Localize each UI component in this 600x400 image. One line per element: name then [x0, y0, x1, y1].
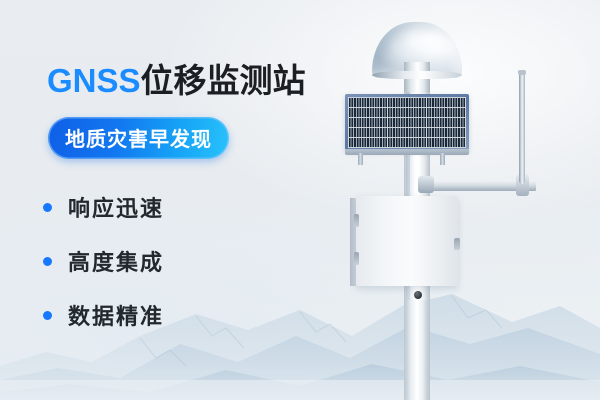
solar-cell: [349, 128, 387, 137]
bullet-dot-icon: [43, 257, 52, 266]
solar-cell: [388, 138, 426, 147]
solar-panel-cells: [348, 97, 466, 148]
tagline-badge: 地质灾害早发现: [48, 117, 229, 159]
brand-name: GNSS: [47, 62, 141, 99]
solar-cell: [388, 128, 426, 137]
solar-cell: [427, 108, 465, 117]
solar-panel: [345, 94, 469, 151]
solar-panel-frame: [345, 149, 469, 155]
solar-cell: [427, 138, 465, 147]
pole-lower-section: [406, 300, 428, 400]
feature-label: 响应迅速: [68, 191, 164, 223]
solar-cell: [388, 118, 426, 127]
page-title-rest: 位移监测站: [141, 62, 306, 99]
cabinet-latch: [454, 238, 460, 250]
list-item: 响应迅速: [43, 180, 164, 234]
list-item: 高度集成: [43, 234, 164, 288]
solar-cell: [388, 98, 426, 107]
cabinet-hinge-bottom: [354, 252, 359, 265]
solar-cell: [427, 118, 465, 127]
cabinet-hinge-top: [354, 214, 359, 227]
feature-label: 高度集成: [68, 245, 164, 277]
solar-cell: [388, 108, 426, 117]
feature-list: 响应迅速 高度集成 数据精准: [43, 180, 164, 342]
solar-panel-leg: [358, 153, 363, 165]
page-title: GNSS位移监测站: [47, 54, 306, 102]
whip-antenna: [519, 72, 525, 184]
instrument-enclosure: 环境监测站: [356, 196, 458, 286]
monitoring-station-device: 环境监测站: [330, 0, 600, 400]
feature-label: 数据精准: [68, 299, 164, 331]
solar-cell: [427, 128, 465, 137]
solar-cell: [349, 118, 387, 127]
list-item: 数据精准: [43, 288, 164, 342]
bullet-dot-icon: [43, 203, 52, 212]
bullet-dot-icon: [43, 311, 52, 320]
solar-cell: [349, 138, 387, 147]
solar-cell: [427, 98, 465, 107]
dome-antenna-base: [372, 71, 462, 79]
cross-arm-clamp-left: [418, 176, 434, 193]
pole-bolt: [414, 291, 422, 299]
solar-cell: [349, 108, 387, 117]
product-poster: 环境监测站 GNSS位移监测站 地质灾害早发现 响应迅速 高度集成 数据精准: [0, 0, 600, 400]
whip-antenna-cap: [518, 70, 526, 75]
solar-cell: [349, 98, 387, 107]
solar-panel-leg: [440, 153, 445, 165]
